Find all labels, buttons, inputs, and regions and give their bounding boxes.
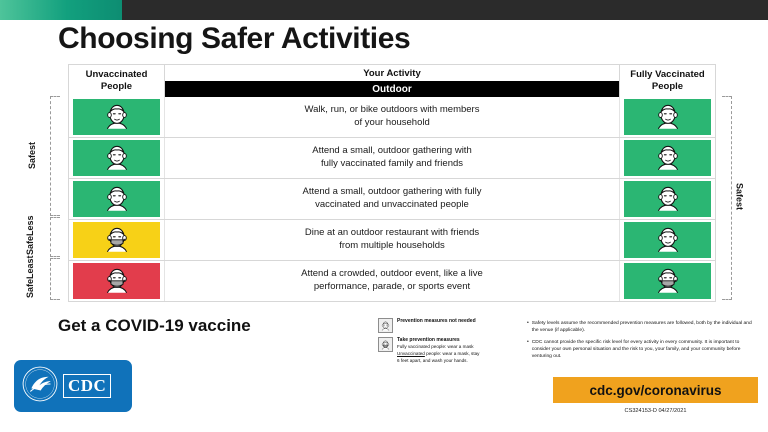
activity-line1: Dine at an outdoor restaurant with frien… — [305, 227, 479, 240]
rail-left-less-safe-label: Safe Less — [26, 217, 50, 255]
legend: Prevention measures not needed Take prev… — [378, 318, 518, 368]
face-no-mask-icon — [378, 318, 393, 333]
cell-vaccinated-risk — [620, 261, 715, 301]
cdc-wordmark: CDC — [63, 374, 111, 398]
rail-right-safest-label: Safest — [734, 96, 743, 298]
legend-item: Take prevention measures Fully vaccinate… — [378, 337, 518, 364]
rail-left-less-safe: Safe Less — [26, 217, 62, 257]
cell-unvaccinated-risk — [69, 179, 164, 219]
face-no-mask-icon — [102, 182, 132, 217]
rail-left-safest: Safest — [26, 96, 62, 216]
page-title: Choosing Safer Activities — [58, 22, 410, 56]
column-header-unvaccinated-line1: Unvaccinated — [86, 69, 148, 81]
legend-line: Unvaccinated people: wear a mask, stay — [397, 351, 479, 358]
table-row: Walk, run, or bike outdoors with members… — [68, 97, 716, 138]
face-no-mask-icon — [653, 223, 683, 258]
column-header-activity-title: Your Activity — [165, 65, 619, 81]
notes-list: • Safety levels assume the recommended p… — [527, 320, 755, 365]
rail-left-less-safe-line2: Safe — [26, 236, 50, 255]
activities-table: Unvaccinated People Your Activity Outdoo… — [68, 64, 716, 302]
cell-unvaccinated-risk — [69, 97, 164, 137]
note-text: Safety levels assume the recommended pre… — [532, 320, 755, 335]
column-header-activity: Your Activity Outdoor — [165, 65, 619, 97]
note-text: CDC cannot provide the specific risk lev… — [532, 339, 755, 361]
legend-text: Take prevention measures Fully vaccinate… — [397, 337, 479, 364]
rail-left-least-safe-line1: Least — [26, 255, 50, 279]
face-no-mask-icon — [102, 100, 132, 135]
top-bar-accent — [0, 0, 122, 20]
rail-left-least-safe-line2: Safe — [26, 279, 50, 298]
legend-title: Prevention measures not needed — [397, 318, 476, 325]
cell-vaccinated-risk — [620, 179, 715, 219]
cell-vaccinated-risk — [620, 220, 715, 260]
rail-left-least-safe-label: Safe Least — [26, 258, 50, 298]
table-row: Attend a crowded, outdoor event, like a … — [68, 261, 716, 302]
face-mask-icon — [102, 264, 132, 299]
note-item: • CDC cannot provide the specific risk l… — [527, 339, 755, 361]
cell-unvaccinated-risk — [69, 138, 164, 178]
cell-unvaccinated-risk — [69, 261, 164, 301]
face-no-mask-icon — [653, 100, 683, 135]
column-header-unvaccinated-line2: People — [86, 81, 148, 93]
url-banner[interactable]: cdc.gov/coronavirus — [553, 377, 758, 403]
table-body: Walk, run, or bike outdoors with members… — [68, 97, 716, 302]
top-bar — [0, 0, 768, 20]
table-row: Attend a small, outdoor gathering with f… — [68, 179, 716, 220]
hhs-seal-icon — [22, 366, 58, 407]
face-mask-icon — [378, 337, 393, 352]
activity-line2: performance, parade, or sports event — [301, 281, 483, 294]
activity-line2: fully vaccinated family and friends — [312, 158, 471, 171]
rail-left-less-safe-line1: Less — [26, 215, 50, 236]
rail-left-least-safe: Safe Least — [26, 258, 62, 300]
rail-right-safest: Safest — [722, 96, 756, 300]
cell-activity: Attend a small, outdoor gathering with f… — [164, 179, 620, 219]
table-row: Dine at an outdoor restaurant with frien… — [68, 220, 716, 261]
table-row: Attend a small, outdoor gathering with f… — [68, 138, 716, 179]
column-header-unvaccinated: Unvaccinated People — [69, 65, 165, 97]
column-header-vaccinated-line1: Fully Vaccinated — [630, 69, 704, 81]
table-header-row: Unvaccinated People Your Activity Outdoo… — [68, 64, 716, 97]
column-header-vaccinated: Fully Vaccinated People — [619, 65, 715, 97]
activity-line2: from multiple households — [305, 240, 479, 253]
activity-line1: Attend a small, outdoor gathering with f… — [302, 186, 481, 199]
activity-line2: of your household — [305, 117, 480, 130]
note-bullet-icon: • — [527, 339, 529, 361]
legend-title: Take prevention measures — [397, 337, 479, 344]
legend-item: Prevention measures not needed — [378, 318, 518, 333]
column-header-vaccinated-line2: People — [630, 81, 704, 93]
cell-activity: Dine at an outdoor restaurant with frien… — [164, 220, 620, 260]
activity-line1: Walk, run, or bike outdoors with members — [305, 104, 480, 117]
cell-activity: Attend a crowded, outdoor event, like a … — [164, 261, 620, 301]
vaccine-heading: Get a COVID-19 vaccine — [58, 316, 251, 336]
face-no-mask-icon — [653, 141, 683, 176]
document-id: CS324153-D 04/27/2021 — [553, 408, 758, 414]
cdc-logo[interactable]: CDC — [14, 360, 132, 412]
activity-line1: Attend a small, outdoor gathering with — [312, 145, 471, 158]
note-item: • Safety levels assume the recommended p… — [527, 320, 755, 335]
legend-line: Fully vaccinated people: wear a mask — [397, 344, 479, 351]
face-no-mask-icon — [653, 182, 683, 217]
legend-text: Prevention measures not needed — [397, 318, 476, 333]
cell-vaccinated-risk — [620, 97, 715, 137]
activity-line1: Attend a crowded, outdoor event, like a … — [301, 268, 483, 281]
rail-left-safest-label: Safest — [28, 96, 37, 214]
cell-activity: Attend a small, outdoor gathering with f… — [164, 138, 620, 178]
face-mask-icon — [653, 264, 683, 299]
cell-activity: Walk, run, or bike outdoors with members… — [164, 97, 620, 137]
face-mask-icon — [102, 223, 132, 258]
cell-vaccinated-risk — [620, 138, 715, 178]
note-bullet-icon: • — [527, 320, 529, 335]
activity-line2: vaccinated and unvaccinated people — [302, 199, 481, 212]
cell-unvaccinated-risk — [69, 220, 164, 260]
legend-line: 6 feet apart, and wash your hands. — [397, 358, 479, 365]
face-no-mask-icon — [102, 141, 132, 176]
column-header-activity-subtitle: Outdoor — [165, 81, 619, 97]
